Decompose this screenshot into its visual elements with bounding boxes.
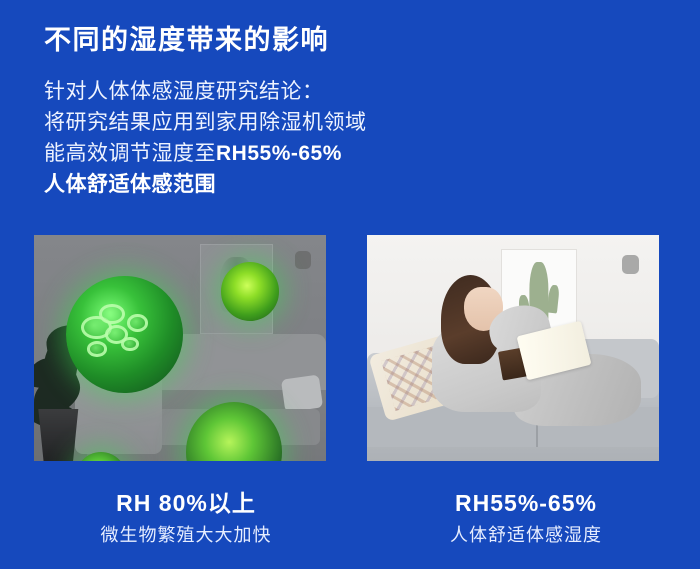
body-line-3: 能高效调节湿度至RH55%-65%: [44, 138, 474, 169]
microbe-blob-large: [66, 276, 183, 394]
panel-comfort-humidity-image: [367, 235, 659, 461]
caption-high-humidity-title: RH 80%以上: [26, 488, 346, 518]
plant-pot: [37, 409, 80, 461]
microbe-cell: [121, 337, 139, 351]
humidity-infographic-slide: 不同的湿度带来的影响 针对人体体感湿度研究结论： 将研究结果应用到家用除湿机领域…: [0, 0, 700, 569]
microbe-cell: [99, 304, 125, 324]
caption-comfort-humidity: RH55%-65% 人体舒适体感湿度: [366, 488, 686, 547]
body-line-2: 将研究结果应用到家用除湿机领域: [44, 107, 474, 138]
microbe-cell: [87, 341, 107, 356]
caption-row: RH 80%以上 微生物繁殖大大加快 RH55%-65% 人体舒适体感湿度: [0, 488, 700, 569]
caption-high-humidity: RH 80%以上 微生物繁殖大大加快: [26, 488, 346, 547]
panel-high-humidity-image: [34, 235, 326, 461]
body-line-3-highlight: RH55%-65%: [216, 142, 342, 165]
page-title: 不同的湿度带来的影响: [44, 18, 329, 57]
bright-room-scene: [367, 235, 659, 461]
microbe-cell: [127, 314, 148, 332]
caption-comfort-humidity-subtitle: 人体舒适体感湿度: [366, 523, 686, 547]
body-line-3-prefix: 能高效调节湿度至: [44, 142, 216, 165]
wall-thermostat-icon: [295, 251, 311, 269]
dark-room-scene: [34, 235, 326, 461]
body-line-4: 人体舒适体感范围: [44, 169, 474, 200]
microbe-blob-small: [221, 262, 279, 321]
panel-row: [0, 235, 700, 461]
woman-reading: [414, 271, 642, 443]
body-line-1: 针对人体体感湿度研究结论：: [44, 76, 474, 107]
body-copy: 针对人体体感湿度研究结论： 将研究结果应用到家用除湿机领域 能高效调节湿度至RH…: [44, 76, 474, 200]
caption-comfort-humidity-title: RH55%-65%: [366, 488, 686, 518]
caption-high-humidity-subtitle: 微生物繁殖大大加快: [26, 523, 346, 547]
